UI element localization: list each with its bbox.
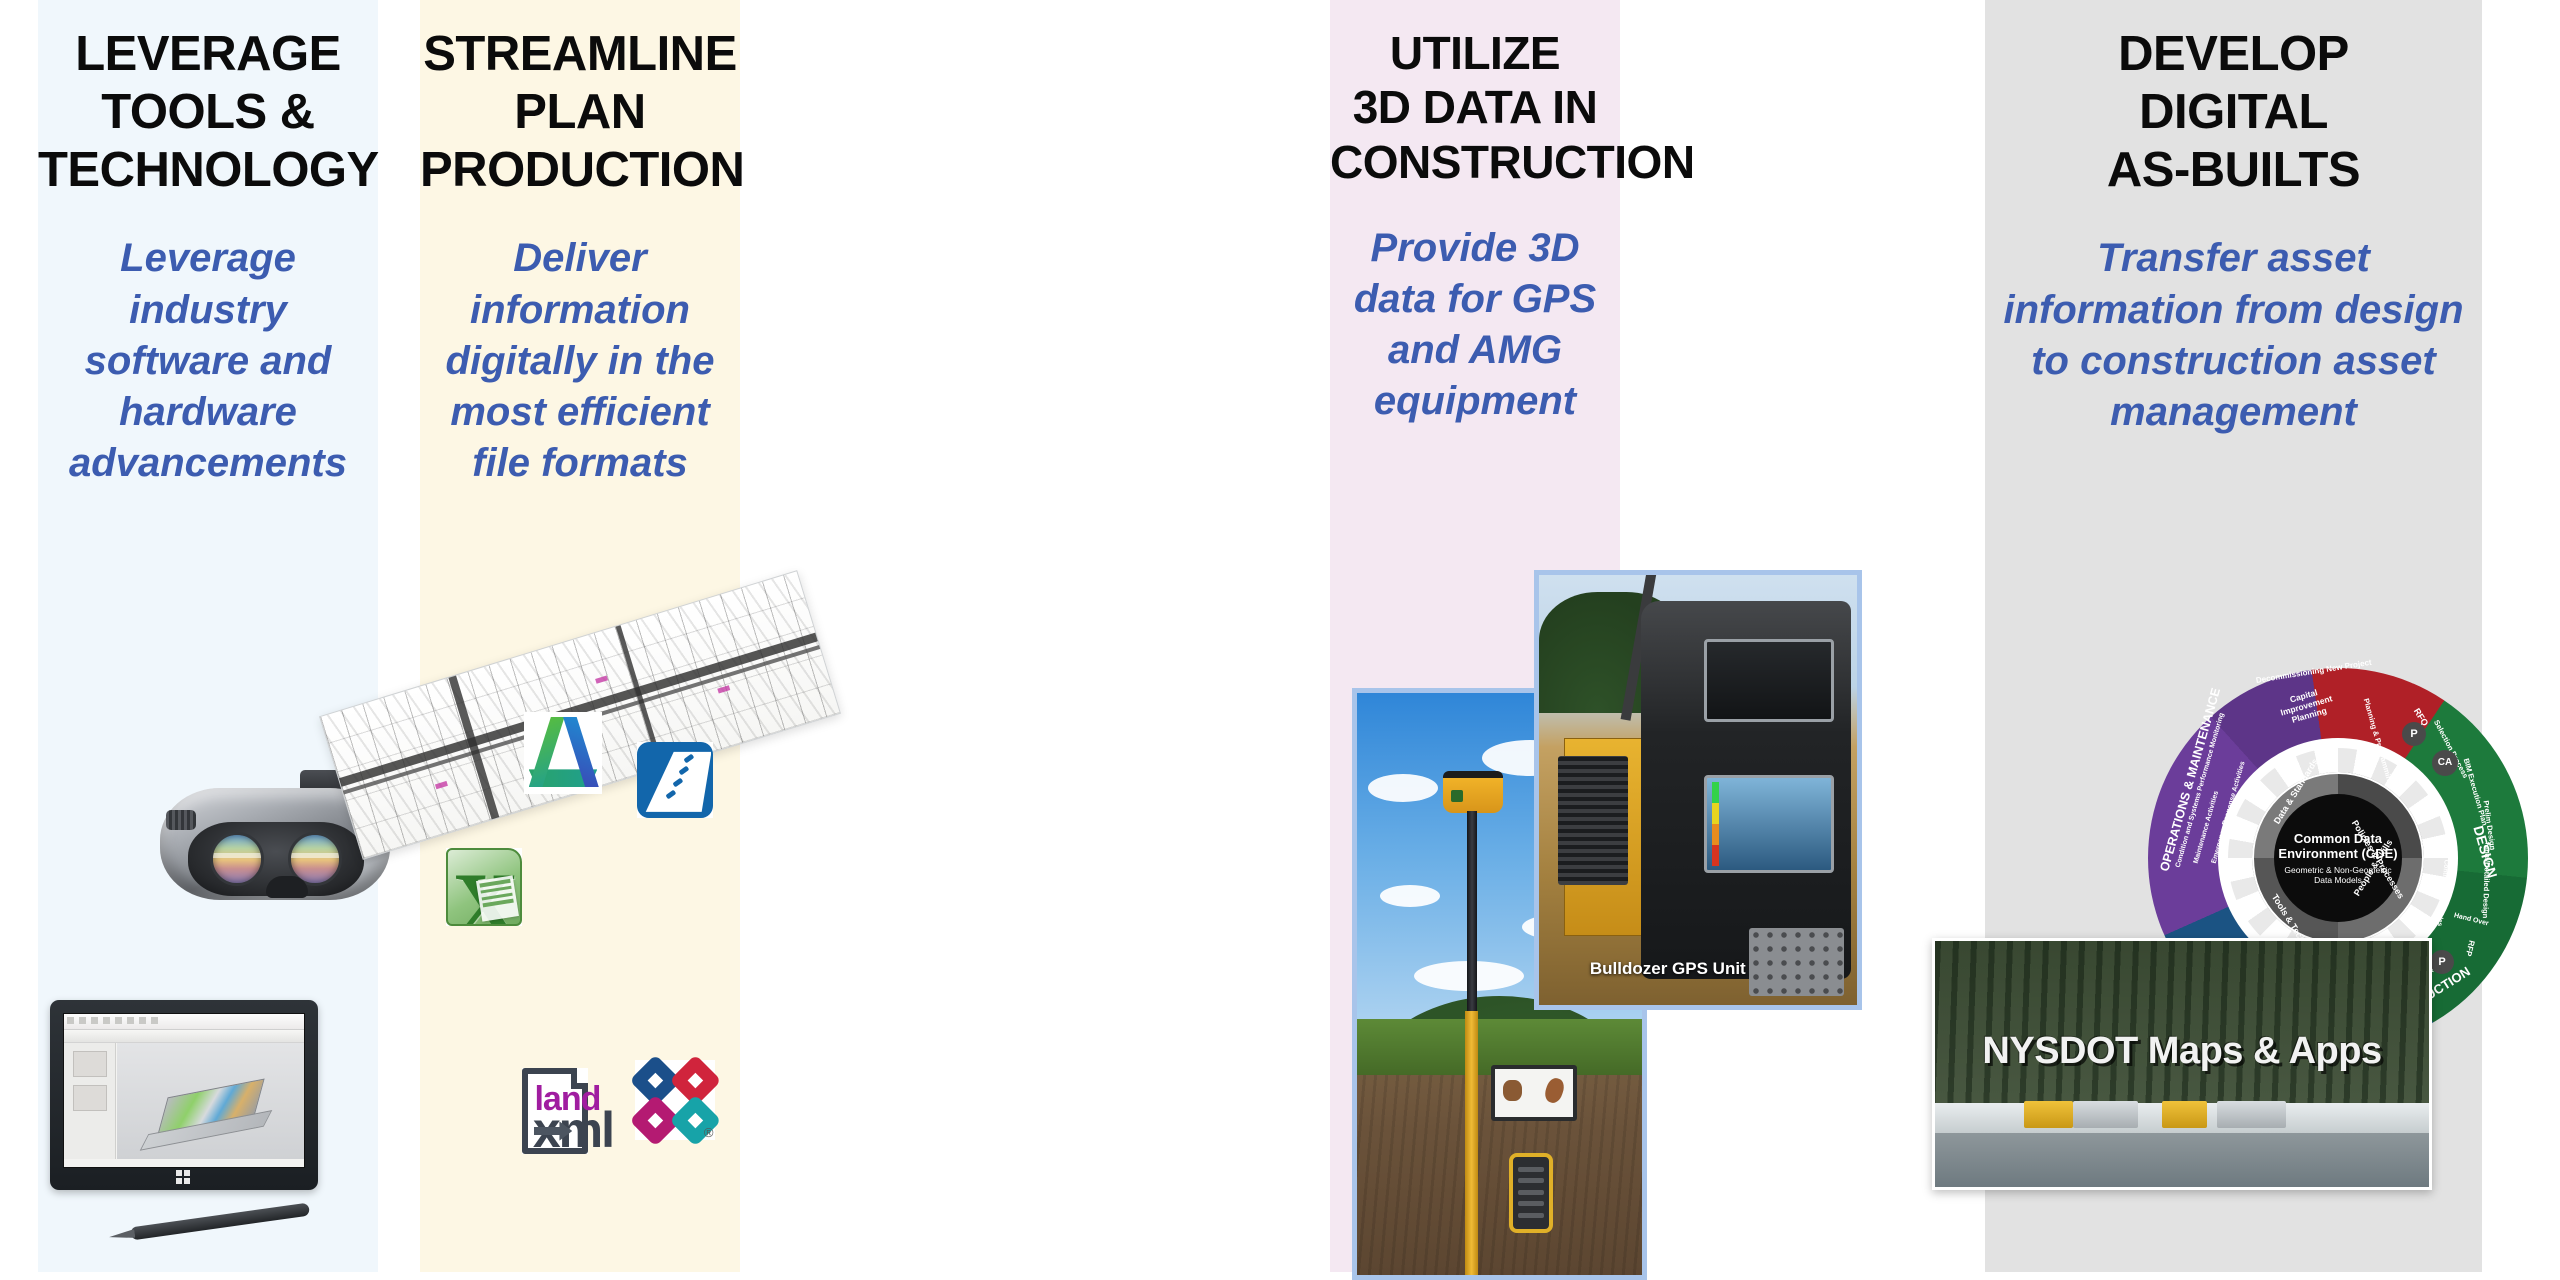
cad-thumbnail [73, 1085, 107, 1111]
cad-menubar [64, 1014, 304, 1030]
cad-thumbnail [73, 1051, 107, 1077]
gps-status-display [1704, 639, 1834, 722]
plow-truck-bed [2073, 1101, 2137, 1128]
wheel-node-p: P [2402, 722, 2426, 746]
tread-plate [1749, 928, 1844, 997]
landxml-file-icon: land xml [522, 1068, 588, 1154]
vr-lens-left [210, 832, 264, 886]
gps-guidance-screen [1704, 775, 1834, 873]
column-subtitle: Leverage industry software and hardware … [38, 199, 378, 489]
wheel-node-p2: P [2430, 950, 2454, 974]
wheel-node-label: P [2438, 956, 2445, 969]
column-heading: STREAMLINE PLAN PRODUCTION [420, 0, 740, 199]
vr-face-cavity [188, 822, 364, 896]
vr-adjust-knob [166, 810, 196, 830]
gps-control-panel [1641, 601, 1851, 979]
data-collector-keypad [1509, 1153, 1553, 1233]
column-heading: DEVELOP DIGITAL AS-BUILTS [1985, 0, 2482, 199]
cloud [1380, 885, 1440, 907]
column-subtitle: Transfer asset information from design t… [1985, 199, 2482, 438]
plow-truck [2024, 1101, 2073, 1128]
elevation-led-bar [1712, 782, 1719, 865]
wheel-node-ca: CA [2432, 750, 2458, 776]
gps-rover-receiver [1443, 771, 1503, 813]
survey-pole [1467, 811, 1477, 1011]
tablet-cad-photo [50, 1000, 318, 1190]
wheel-node-label: CA [2438, 757, 2452, 769]
excel-logo: X [446, 848, 522, 926]
vr-nose-gap [266, 876, 308, 898]
snowy-forest [1935, 941, 2429, 1103]
buildingsmart-ifc-logo: ® [635, 1060, 715, 1140]
column-subtitle: Provide 3D data for GPS and AMG equipmen… [1330, 189, 1620, 428]
plow-truck [2162, 1101, 2206, 1128]
dirt-mound [1357, 1019, 1642, 1275]
windows-logo-icon [176, 1170, 192, 1186]
infographic-board: LEVERAGE TOOLS & TECHNOLOGY Leverage ind… [0, 0, 2560, 1280]
cad-toolbar [64, 1030, 304, 1043]
bulldozer-gps-photo: Bulldozer GPS Unit [1534, 570, 1862, 1010]
dozer-scene: Bulldozer GPS Unit [1539, 575, 1857, 1005]
nysdot-maps-apps-photo: NYSDOT Maps & Apps [1932, 938, 2432, 1190]
cad-viewport [117, 1043, 304, 1159]
export-arrow-icon [534, 1121, 572, 1140]
column-subtitle: Deliver information digitally in the mos… [420, 199, 740, 489]
nysdot-caption: NYSDOT Maps & Apps [1935, 1030, 2429, 1073]
tablet-screen [63, 1013, 305, 1168]
column-heading: LEVERAGE TOOLS & TECHNOLOGY [38, 0, 378, 199]
cad-3d-model [156, 1079, 265, 1140]
data-collector-screen [1491, 1065, 1577, 1121]
wheel-node-label: P [2410, 728, 2417, 741]
autodesk-logo [524, 712, 602, 794]
lake [1935, 1133, 2429, 1187]
plow-truck-bed [2217, 1101, 2286, 1128]
openroads-road-icon [637, 742, 713, 818]
photo-caption: Bulldozer GPS Unit [1590, 959, 1746, 979]
survey-pole-bottom [1465, 1019, 1478, 1275]
cad-sidebar [64, 1043, 116, 1159]
panel-vent [1558, 756, 1628, 885]
column-heading: UTILIZE 3D DATA IN CONSTRUCTION [1330, 0, 1620, 189]
